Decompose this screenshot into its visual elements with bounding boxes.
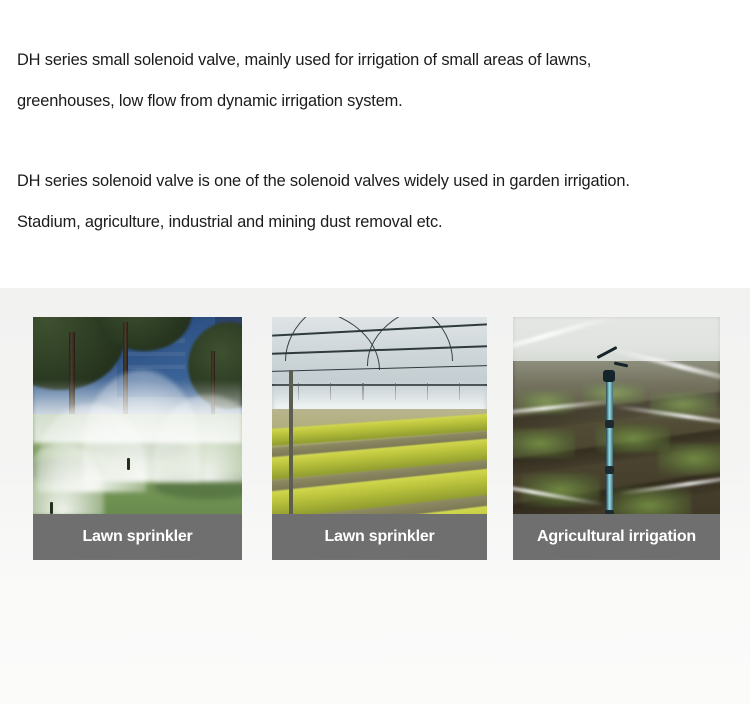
gallery-item-agricultural-irrigation[interactable]: Agricultural irrigation (513, 317, 720, 560)
gallery-item-caption-bar: Agricultural irrigation (513, 514, 720, 560)
sprinkler-head-2 (127, 458, 130, 470)
card-drop-shadow (517, 559, 716, 560)
application-image-gallery: Lawn sprinkler (0, 288, 750, 578)
gallery-item-caption-text: Lawn sprinkler (324, 528, 434, 546)
spray-haze (513, 317, 720, 426)
riser-clamp-1 (605, 420, 614, 428)
card-drop-shadow (276, 559, 483, 560)
impact-head-body (603, 370, 615, 382)
description-text-block: DH series small solenoid valve, mainly u… (17, 40, 750, 243)
card-drop-shadow (37, 559, 238, 560)
gallery-item-lawn-sprinkler-park[interactable]: Lawn sprinkler (33, 317, 242, 560)
intro-paragraph-line-2: greenhouses, low flow from dynamic irrig… (17, 81, 750, 122)
gallery-item-caption-bar: Lawn sprinkler (33, 514, 242, 560)
applications-paragraph-line-2: Stadium, agriculture, industrial and min… (17, 202, 750, 243)
riser-clamp-2 (605, 466, 614, 474)
crop-clump-6 (658, 443, 720, 475)
paragraph-spacer (17, 122, 750, 161)
gallery-item-caption-bar: Lawn sprinkler (272, 514, 487, 560)
applications-paragraph-line-1: DH series solenoid valve is one of the s… (17, 161, 750, 202)
gallery-item-caption-text: Lawn sprinkler (82, 528, 192, 546)
sprinkler-head-1 (50, 502, 53, 514)
gallery-item-lawn-sprinkler-greenhouse[interactable]: Lawn sprinkler (272, 317, 487, 560)
crop-clump-4 (513, 429, 575, 458)
intro-paragraph-line-1: DH series small solenoid valve, mainly u… (17, 40, 750, 81)
product-description-page: DH series small solenoid valve, mainly u… (0, 0, 750, 704)
gallery-item-caption-text: Agricultural irrigation (537, 528, 696, 546)
